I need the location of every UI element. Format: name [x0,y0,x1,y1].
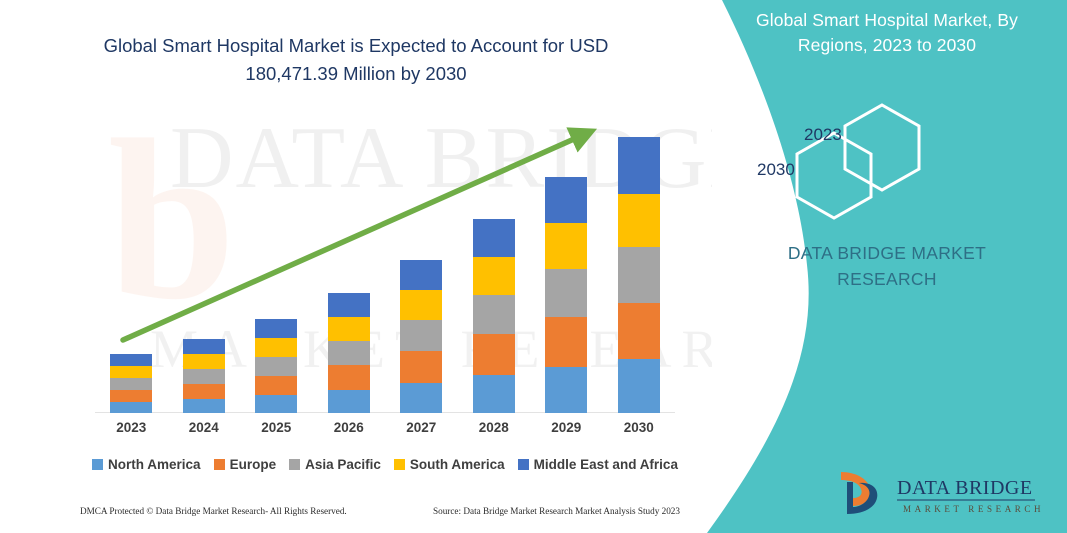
legend-label: Europe [230,457,277,472]
legend-swatch [214,459,225,470]
legend-swatch [289,459,300,470]
legend-item[interactable]: Middle East and Africa [518,457,678,472]
stacked-bar-chart: 20232024202520262027202820292030 North A… [0,0,712,533]
x-axis-label-2030: 2030 [604,420,674,435]
legend-label: South America [410,457,505,472]
x-axis-label-2029: 2029 [531,420,601,435]
logo-primary-text: DATA BRIDGE [897,477,1033,499]
brand-name-line-2: RESEARCH [737,266,1037,292]
chart-panel: b DATA BRIDGE MARKET RESEARCH Global Sma… [0,0,712,533]
legend-label: Asia Pacific [305,457,381,472]
brand-name: DATA BRIDGE MARKET RESEARCH [737,240,1037,293]
x-axis-label-2023: 2023 [96,420,166,435]
legend-item[interactable]: North America [92,457,201,472]
hexagon-2023-shape [845,105,919,190]
hexagon-2023-label: 2023 [804,125,842,145]
x-axis-label-2027: 2027 [386,420,456,435]
brand-panel-content: Global Smart Hospital Market, By Regions… [687,0,1067,533]
hexagon-2030-label: 2030 [757,160,795,180]
footer: DMCA Protected © Data Bridge Market Rese… [80,506,680,522]
legend-label: North America [108,457,201,472]
legend-item[interactable]: Europe [214,457,277,472]
hexagon-badges [782,100,982,220]
x-axis-label-2024: 2024 [169,420,239,435]
x-axis-label-2028: 2028 [459,420,529,435]
legend-swatch [518,459,529,470]
legend-label: Middle East and Africa [534,457,678,472]
x-axis-label-2025: 2025 [241,420,311,435]
x-axis-labels: 20232024202520262027202820292030 [95,420,675,444]
legend-item[interactable]: South America [394,457,505,472]
chart-legend: North AmericaEuropeAsia PacificSouth Ame… [95,453,675,475]
brand-name-line-1: DATA BRIDGE MARKET [737,240,1037,266]
hexagon-2030-shape [797,133,871,218]
legend-swatch [92,459,103,470]
logo-secondary-text: MARKET RESEARCH [903,504,1044,514]
footer-copyright: DMCA Protected © Data Bridge Market Rese… [80,506,347,522]
growth-arrow-icon [95,115,675,415]
infographic-slide: b DATA BRIDGE MARKET RESEARCH Global Sma… [0,0,1067,533]
legend-swatch [394,459,405,470]
logo-mark-orange [841,472,871,506]
x-axis-label-2026: 2026 [314,420,384,435]
legend-item[interactable]: Asia Pacific [289,457,381,472]
company-logo: DATA BRIDGE MARKET RESEARCH [827,468,1047,524]
footer-source: Source: Data Bridge Market Research Mark… [433,506,680,522]
panel-title: Global Smart Hospital Market, By Regions… [727,8,1047,58]
